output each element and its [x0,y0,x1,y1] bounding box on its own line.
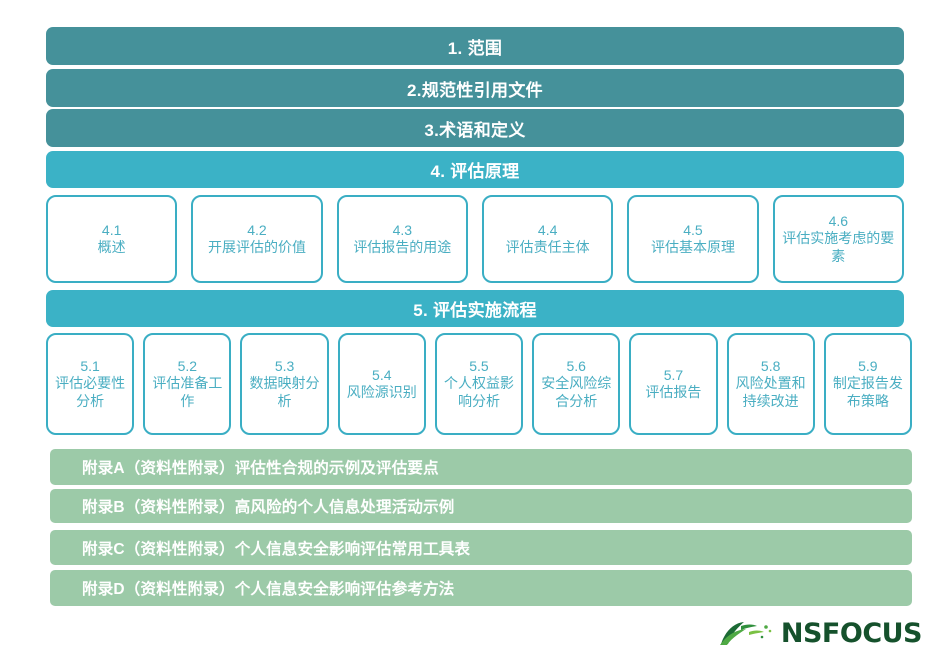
subsection-box-5-8: 5.8 风险处置和持续改进 [727,333,815,435]
subsection-label: 风险源识别 [347,384,417,401]
subsection-box-4-3: 4.3 评估报告的用途 [337,195,468,283]
subsection-box-5-7: 5.7 评估报告 [629,333,717,435]
subsection-number: 5.5 [469,358,488,375]
nsfocus-logo: NSFOCUS [719,616,922,650]
subsection-box-4-6: 4.6 评估实施考虑的要素 [773,195,904,283]
subsection-number: 5.1 [80,358,99,375]
subsection-number: 4.6 [829,213,848,230]
subsection-box-4-4: 4.4 评估责任主体 [482,195,613,283]
subsection-number: 5.8 [761,358,780,375]
subsection-number: 5.4 [372,367,391,384]
subsection-label: 评估责任主体 [506,239,590,256]
appendix-bar-b: 附录B（资料性附录）高风险的个人信息处理活动示例 [50,489,912,523]
subsection-label: 评估基本原理 [651,239,735,256]
subsection-number: 5.7 [664,367,683,384]
appendix-bar-a: 附录A（资料性附录）评估性合规的示例及评估要点 [50,449,912,485]
nsfocus-wordmark: NSFOCUS [781,620,922,647]
subsection-number: 5.6 [566,358,585,375]
subsection-box-4-1: 4.1 概述 [46,195,177,283]
subsection-number: 4.1 [102,222,121,239]
subsection-label: 个人权益影响分析 [440,375,518,409]
subsection-number: 5.2 [178,358,197,375]
subsection-box-5-5: 5.5 个人权益影响分析 [435,333,523,435]
subsection-label: 评估报告 [645,384,701,401]
subsection-box-5-3: 5.3 数据映射分析 [240,333,328,435]
subsection-label: 评估必要性分析 [51,375,129,409]
subsection-number: 4.5 [683,222,702,239]
subsection-label: 数据映射分析 [245,375,323,409]
subsection-label: 开展评估的价值 [208,239,306,256]
subsection-box-4-2: 4.2 开展评估的价值 [191,195,322,283]
subsection-box-4-5: 4.5 评估基本原理 [627,195,758,283]
subsection-number: 4.4 [538,222,557,239]
appendix-bar-c: 附录C（资料性附录）个人信息安全影响评估常用工具表 [50,530,912,565]
appendix-bar-d: 附录D（资料性附录）个人信息安全影响评估参考方法 [50,570,912,606]
diagram-canvas: 1. 范围 2.规范性引用文件 3.术语和定义 4. 评估原理 4.1 概述 4… [0,0,944,662]
subsection-label: 制定报告发布策略 [829,375,907,409]
nsfocus-bird-icon [719,618,775,648]
subsection-number: 4.3 [393,222,412,239]
subsection-label: 评估实施考虑的要素 [778,230,899,264]
subsection-box-5-6: 5.6 安全风险综合分析 [532,333,620,435]
subsection-box-5-2: 5.2 评估准备工作 [143,333,231,435]
subsection-label: 概述 [98,239,126,256]
section-bar-4: 4. 评估原理 [46,151,904,188]
subsection-number: 5.9 [858,358,877,375]
subsection-label: 评估准备工作 [148,375,226,409]
subsection-label: 风险处置和持续改进 [732,375,810,409]
section-bar-5: 5. 评估实施流程 [46,290,904,327]
section-bar-1: 1. 范围 [46,27,904,65]
subsection-box-5-9: 5.9 制定报告发布策略 [824,333,912,435]
subsection-number: 5.3 [275,358,294,375]
subsection-box-5-4: 5.4 风险源识别 [338,333,426,435]
subsection-label: 安全风险综合分析 [537,375,615,409]
subsection-label: 评估报告的用途 [353,239,451,256]
subsection-row-5: 5.1 评估必要性分析 5.2 评估准备工作 5.3 数据映射分析 5.4 风险… [46,333,912,435]
section-bar-2: 2.规范性引用文件 [46,69,904,107]
subsection-box-5-1: 5.1 评估必要性分析 [46,333,134,435]
subsection-number: 4.2 [247,222,266,239]
section-bar-3: 3.术语和定义 [46,109,904,147]
subsection-row-4: 4.1 概述 4.2 开展评估的价值 4.3 评估报告的用途 4.4 评估责任主… [46,195,904,283]
